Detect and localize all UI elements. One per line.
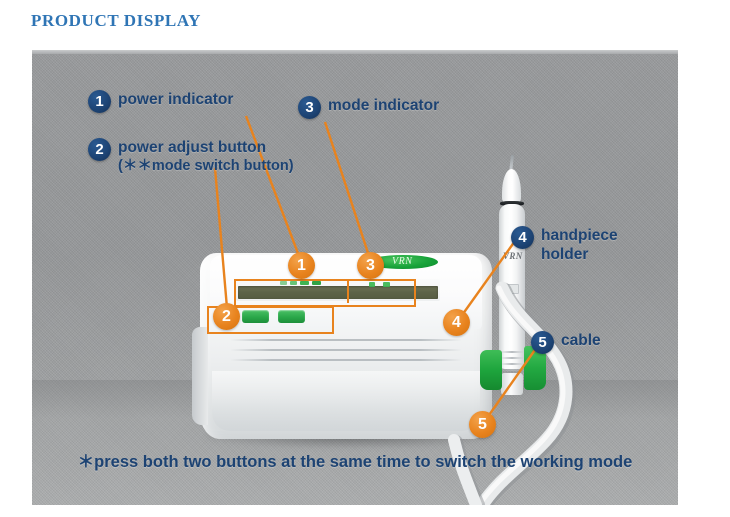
marker-5-cable: 5 [469, 411, 496, 438]
photo-caption: ＊press both two buttons at the same time… [32, 448, 678, 472]
callout-label-5: cable [561, 331, 601, 350]
callout-badge-4: 4 [511, 226, 534, 249]
handpiece-ce-mark: CE [504, 299, 514, 306]
callout-label-3: mode indicator [328, 96, 439, 115]
page-title: PRODUCT DISPLAY [31, 11, 201, 31]
callout-cable: 5 cable [531, 331, 601, 354]
callout-power-adjust-button: 2 power adjust button (＊＊mode switch but… [88, 138, 294, 176]
callout-label-2: power adjust button [118, 139, 266, 156]
marker-1-power-indicator: 1 [288, 252, 315, 279]
handpiece-ce-number: 0123 [507, 307, 518, 313]
marker-3-mode-indicator: 3 [357, 252, 384, 279]
callout-label-2-wrap: power adjust button (＊＊mode switch butto… [118, 138, 294, 176]
callout-badge-1: 1 [88, 90, 111, 113]
holder-clip-left [480, 350, 502, 390]
device-groove [230, 359, 462, 361]
callout-power-indicator: 1 power indicator [88, 90, 233, 113]
highlight-box-screen [234, 279, 416, 307]
handpiece-nose-cone [502, 169, 521, 203]
callout-mode-indicator: 3 mode indicator [298, 96, 439, 119]
callout-handpiece-holder: 4 handpiece holder [511, 226, 651, 264]
callout-badge-3: 3 [298, 96, 321, 119]
device-groove [230, 339, 462, 341]
device-brand-mark: VRN [392, 256, 412, 267]
device-lower-sheen [212, 371, 480, 431]
callout-label-1: power indicator [118, 90, 233, 109]
highlight-box-divider [347, 279, 349, 303]
device-groove [230, 349, 462, 351]
callout-label-4: handpiece holder [541, 226, 651, 264]
handpiece-label [507, 284, 519, 294]
marker-2-power-adjust-buttons: 2 [213, 303, 240, 330]
callout-badge-5: 5 [531, 331, 554, 354]
callout-sublabel-2: (＊＊mode switch button) [118, 157, 294, 176]
device-left-foot [192, 327, 208, 425]
callout-badge-2: 2 [88, 138, 111, 161]
marker-4-handpiece-holder: 4 [443, 309, 470, 336]
photo-top-edge [32, 50, 678, 54]
